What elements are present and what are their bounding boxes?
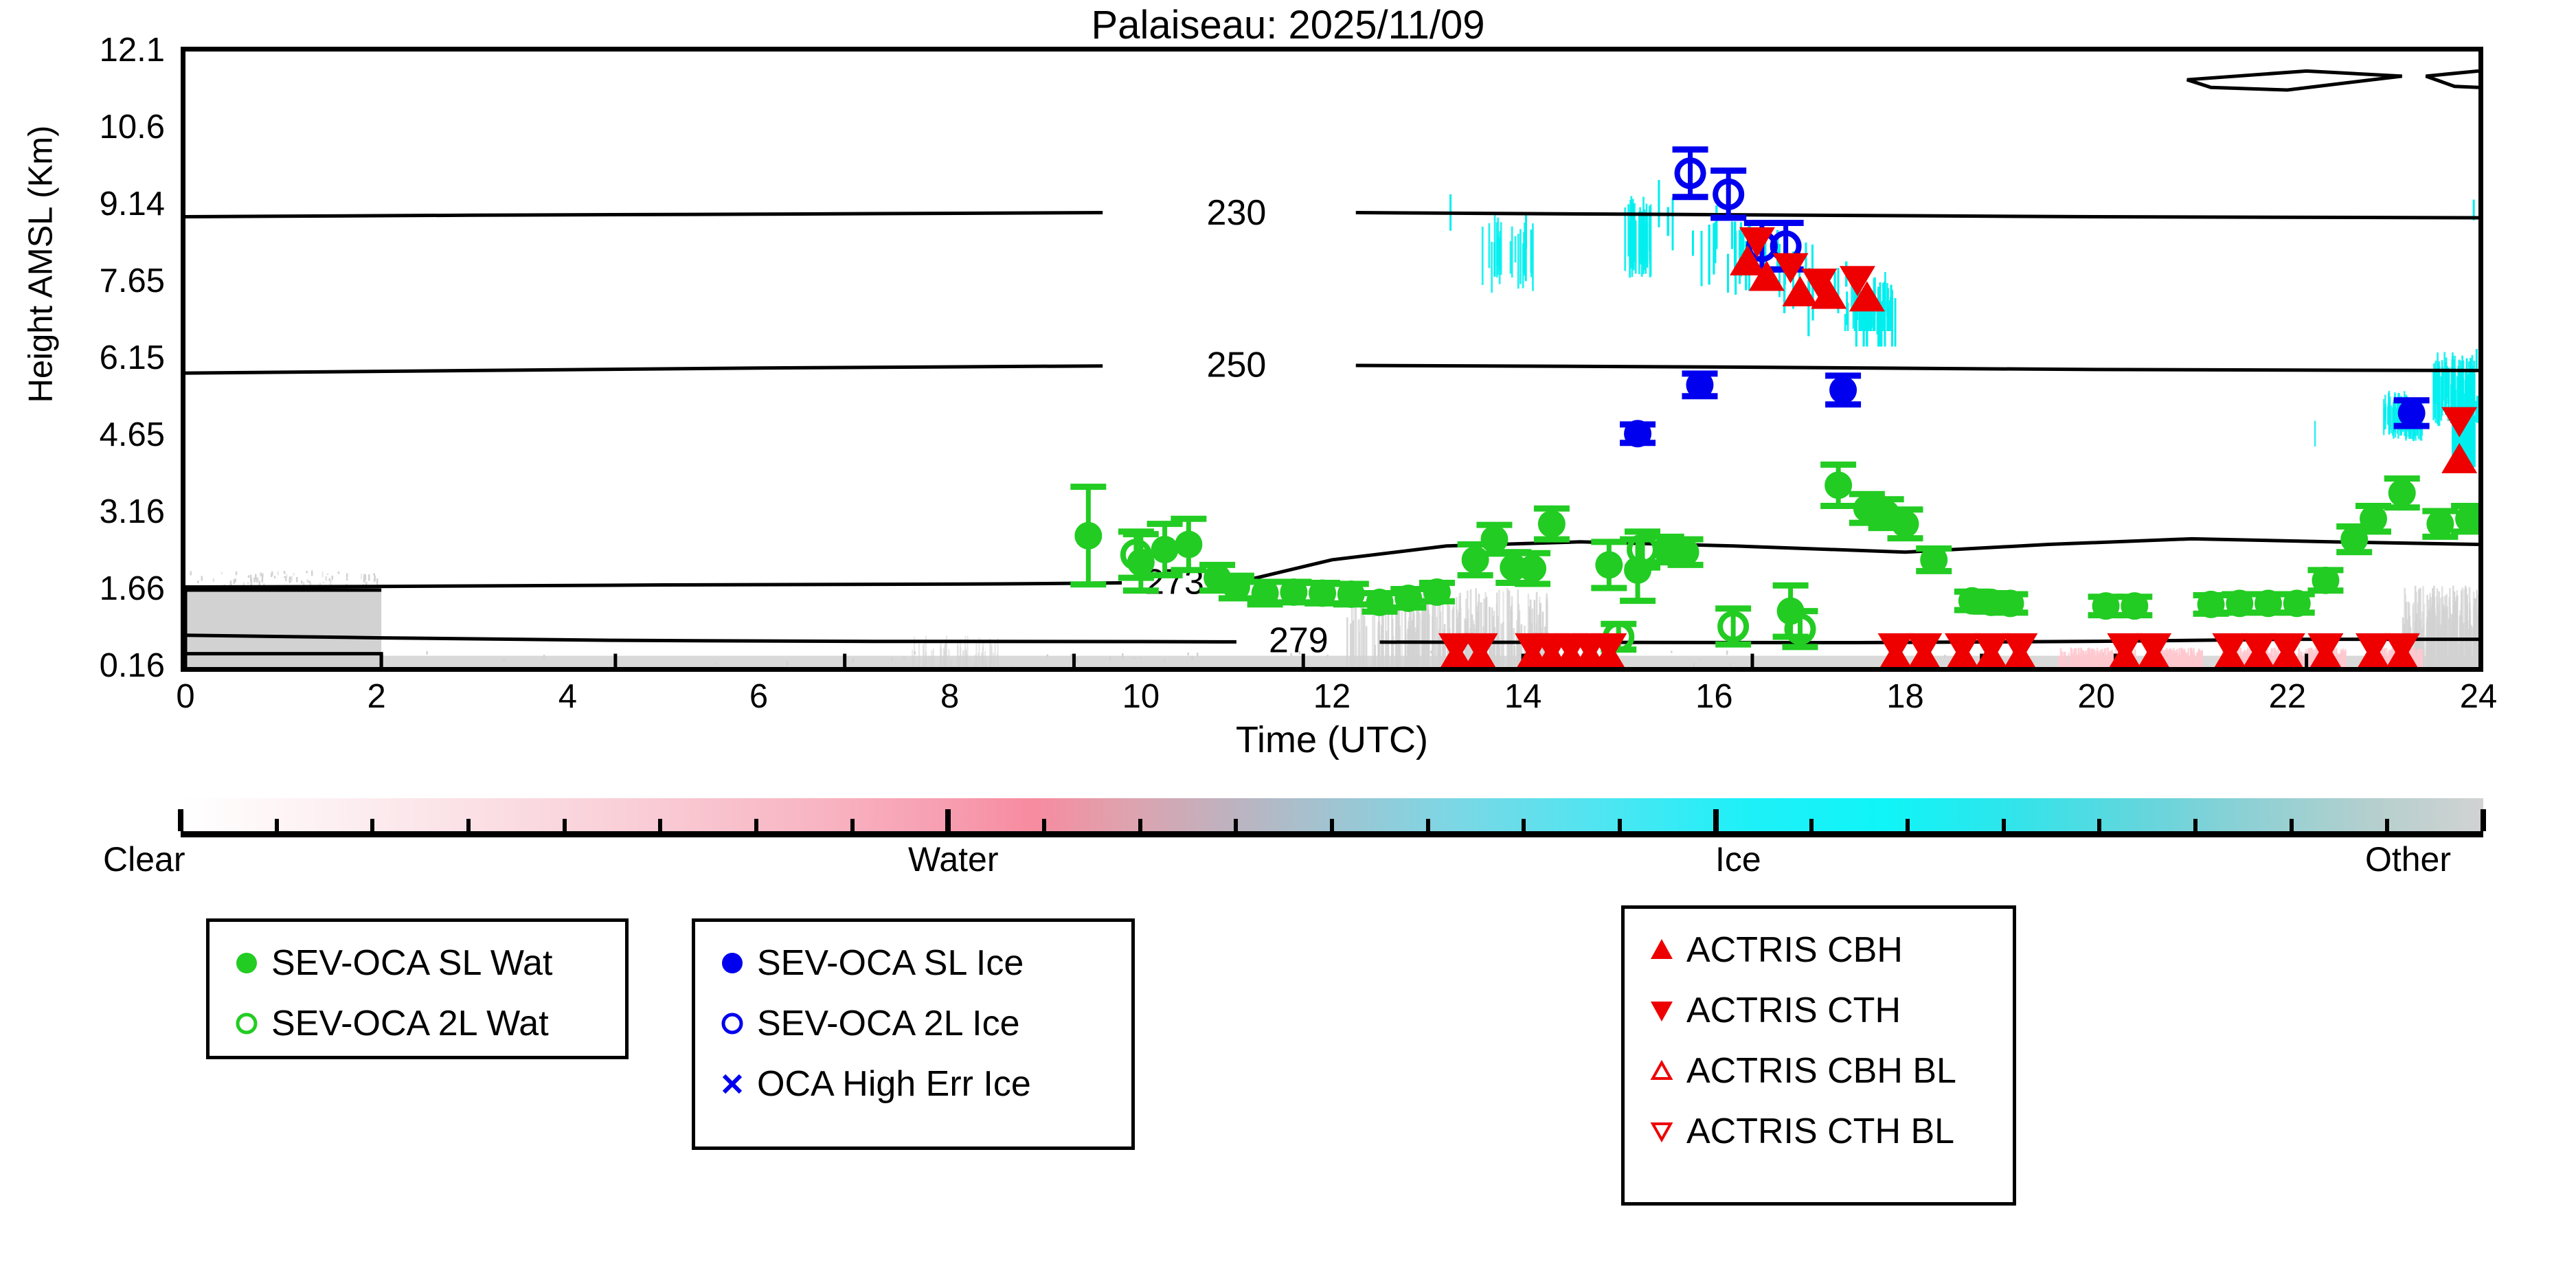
data-point bbox=[1394, 585, 1422, 612]
data-point bbox=[1175, 531, 1202, 558]
colorbar-tick bbox=[754, 819, 758, 831]
colorbar-tick bbox=[1234, 819, 1238, 831]
x-tick-label: 14 bbox=[1468, 679, 1578, 714]
y-tick-label: 3.16 bbox=[0, 495, 165, 529]
x-tick-label: 8 bbox=[895, 679, 1005, 714]
open-tri-up-icon bbox=[1642, 1052, 1681, 1090]
data-point bbox=[1824, 471, 1852, 499]
legend-item[interactable]: SEV-OCA SL Wat bbox=[222, 933, 610, 993]
legend-label: SEV-OCA 2L Ice bbox=[757, 1004, 1019, 1043]
x-tick-label: 6 bbox=[704, 679, 814, 714]
data-point bbox=[2398, 399, 2426, 427]
y-tick-label: 0.16 bbox=[0, 649, 165, 683]
y-tick-label: 7.65 bbox=[0, 264, 165, 298]
colorbar-tick bbox=[2097, 819, 2101, 831]
colorbar-tick bbox=[275, 819, 279, 831]
legend-symbol bbox=[1637, 1112, 1686, 1151]
y-tick-label: 4.65 bbox=[0, 418, 165, 452]
colorbar-tick bbox=[1522, 819, 1526, 831]
legend-label: ACTRIS CBH bbox=[1686, 931, 1903, 969]
isotherm-contours bbox=[185, 71, 2478, 667]
colorbar-tick bbox=[2193, 819, 2197, 831]
colorbar-label-other: Other bbox=[2365, 841, 2451, 878]
classification-colorbar[interactable] bbox=[181, 798, 2483, 837]
cross-icon bbox=[713, 1065, 752, 1103]
data-point bbox=[1462, 546, 1489, 574]
x-tick-label: 16 bbox=[1659, 679, 1769, 714]
colorbar-tick bbox=[178, 809, 183, 831]
colorbar-tick bbox=[1713, 809, 1719, 831]
legend-symbol bbox=[708, 1065, 757, 1103]
colorbar-label-ice: Ice bbox=[1715, 841, 1761, 878]
data-point bbox=[1252, 579, 1279, 607]
colorbar-axis-line bbox=[181, 831, 2483, 837]
water-legend[interactable]: SEV-OCA SL WatSEV-OCA 2L Wat bbox=[206, 918, 629, 1059]
colorbar-tick bbox=[1906, 819, 1910, 831]
x-tick-label: 2 bbox=[321, 679, 431, 714]
contour-label: 250 bbox=[1207, 346, 1267, 385]
data-point bbox=[1538, 510, 1566, 538]
data-point bbox=[1892, 510, 1919, 538]
legend-item[interactable]: SEV-OCA 2L Wat bbox=[222, 993, 610, 1054]
legend-symbol bbox=[1637, 931, 1686, 969]
data-point bbox=[1829, 376, 1857, 404]
plot-area[interactable]: 230250273279 bbox=[181, 47, 2483, 672]
y-tick-label: 1.66 bbox=[0, 572, 165, 606]
open-circle-icon bbox=[227, 1004, 266, 1043]
legend-item[interactable]: SEV-OCA 2L Ice bbox=[708, 993, 1116, 1054]
legend-item[interactable]: ACTRIS CTH BL bbox=[1637, 1101, 1998, 1162]
x-tick-label: 0 bbox=[131, 679, 240, 714]
colorbar-tick bbox=[2002, 819, 2006, 831]
legend-label: SEV-OCA 2L Wat bbox=[271, 1004, 549, 1043]
data-point bbox=[1624, 420, 1651, 447]
colorbar-tick bbox=[2290, 819, 2294, 831]
ice-legend[interactable]: SEV-OCA SL IceSEV-OCA 2L IceOCA High Err… bbox=[692, 918, 1135, 1150]
colorbar-tick bbox=[1618, 819, 1622, 831]
data-point bbox=[2092, 592, 2120, 620]
data-point bbox=[1366, 589, 1394, 616]
legend-symbol bbox=[222, 944, 271, 982]
actris-legend[interactable]: ACTRIS CBHACTRIS CTHACTRIS CBH BLACTRIS … bbox=[1621, 905, 2016, 1206]
data-point bbox=[2255, 589, 2282, 617]
plot-canvas: 230250273279 bbox=[185, 52, 2478, 667]
legend-label: ACTRIS CTH BL bbox=[1686, 1112, 1954, 1151]
data-point bbox=[1423, 578, 1451, 606]
x-tick-label: 4 bbox=[512, 679, 622, 714]
colorbar-tick bbox=[563, 819, 567, 831]
series-sev-oca-sl-ice bbox=[1620, 371, 2430, 447]
colorbar-tick bbox=[1809, 819, 1814, 831]
filled-circle-icon bbox=[227, 944, 266, 982]
data-point bbox=[1309, 579, 1336, 607]
legend-label: SEV-OCA SL Wat bbox=[271, 944, 552, 982]
filled-circle-icon bbox=[713, 944, 752, 982]
y-tick-label: 12.1 bbox=[0, 34, 165, 67]
x-tick-label: 12 bbox=[1277, 679, 1387, 714]
colorbar-tick bbox=[466, 819, 471, 831]
data-point bbox=[1223, 574, 1250, 601]
data-point bbox=[1480, 526, 1508, 553]
data-point bbox=[2360, 505, 2387, 532]
data-point bbox=[1151, 536, 1179, 563]
data-point bbox=[1519, 555, 1546, 583]
data-point bbox=[2455, 505, 2478, 532]
legend-item[interactable]: ACTRIS CTH bbox=[1637, 980, 1998, 1041]
contour-label: 279 bbox=[1269, 621, 1329, 661]
data-point bbox=[2312, 567, 2339, 594]
colorbar-tick bbox=[850, 819, 855, 831]
x-tick-label: 20 bbox=[2042, 679, 2151, 714]
colorbar-tick bbox=[1042, 819, 1046, 831]
legend-label: SEV-OCA SL Ice bbox=[757, 944, 1024, 982]
legend-label: OCA High Err Ice bbox=[757, 1065, 1031, 1103]
data-point bbox=[2426, 510, 2454, 538]
colorbar-label-water: Water bbox=[908, 841, 999, 878]
colorbar-tick bbox=[1138, 819, 1142, 831]
data-point bbox=[1996, 589, 2024, 617]
legend-item[interactable]: OCA High Err Ice bbox=[708, 1054, 1116, 1114]
series-actris-cth bbox=[1438, 227, 2477, 664]
colorbar-tick bbox=[945, 809, 951, 831]
legend-label: ACTRIS CTH bbox=[1686, 991, 1901, 1030]
legend-symbol bbox=[1637, 991, 1686, 1030]
legend-symbol bbox=[708, 944, 757, 982]
data-point bbox=[1920, 546, 1947, 574]
data-point bbox=[1686, 371, 1713, 398]
data-point bbox=[2388, 479, 2416, 507]
colorbar-tick bbox=[2385, 819, 2389, 831]
data-point bbox=[2197, 591, 2225, 618]
x-tick-label: 22 bbox=[2233, 679, 2342, 714]
open-circle-icon bbox=[713, 1004, 752, 1043]
y-tick-label: 10.6 bbox=[0, 111, 165, 144]
series-actris-cbh bbox=[1438, 245, 2477, 667]
y-tick-label: 6.15 bbox=[0, 341, 165, 375]
legend-item[interactable]: SEV-OCA SL Ice bbox=[708, 933, 1116, 993]
legend-label: ACTRIS CBH BL bbox=[1686, 1052, 1956, 1090]
legend-symbol bbox=[1637, 1052, 1686, 1090]
contour-label: 230 bbox=[1207, 193, 1267, 233]
x-tick-label: 18 bbox=[1851, 679, 1961, 714]
legend-item[interactable]: ACTRIS CBH bbox=[1637, 920, 1998, 980]
colorbar-label-clear: Clear bbox=[103, 841, 185, 878]
data-point bbox=[1595, 551, 1623, 578]
colorbar-tick bbox=[1330, 819, 1334, 831]
data-point bbox=[2226, 589, 2253, 617]
legend-item[interactable]: ACTRIS CBH BL bbox=[1637, 1041, 1998, 1101]
colorbar-tick bbox=[370, 819, 374, 831]
data-point bbox=[2121, 592, 2148, 620]
filled-tri-up-icon bbox=[1642, 931, 1681, 969]
y-tick-label: 9.14 bbox=[0, 188, 165, 221]
plot-svg: 230250273279 bbox=[185, 52, 2478, 667]
colorbar-tick bbox=[658, 819, 662, 831]
page-title: Palaiseau: 2025/11/09 bbox=[0, 3, 2576, 48]
figure-root: Palaiseau: 2025/11/09 Height AMSL (Km) 1… bbox=[0, 0, 2576, 1288]
colorbar-tick bbox=[1426, 819, 1430, 831]
data-point bbox=[1672, 539, 1699, 566]
filled-tri-dn-icon bbox=[1642, 991, 1681, 1030]
data-point bbox=[1280, 578, 1307, 606]
data-point bbox=[1337, 580, 1365, 608]
data-point bbox=[2283, 589, 2311, 617]
legend-symbol bbox=[708, 1004, 757, 1043]
x-tick-label: 24 bbox=[2424, 679, 2533, 714]
x-axis-label: Time (UTC) bbox=[181, 720, 2483, 760]
open-tri-dn-icon bbox=[1642, 1112, 1681, 1151]
data-point bbox=[1074, 522, 1102, 550]
series-sev-oca-sl-wat bbox=[1070, 464, 2478, 637]
x-tick-label: 10 bbox=[1086, 679, 1196, 714]
colorbar-tick bbox=[2481, 809, 2486, 831]
legend-symbol bbox=[222, 1004, 271, 1043]
